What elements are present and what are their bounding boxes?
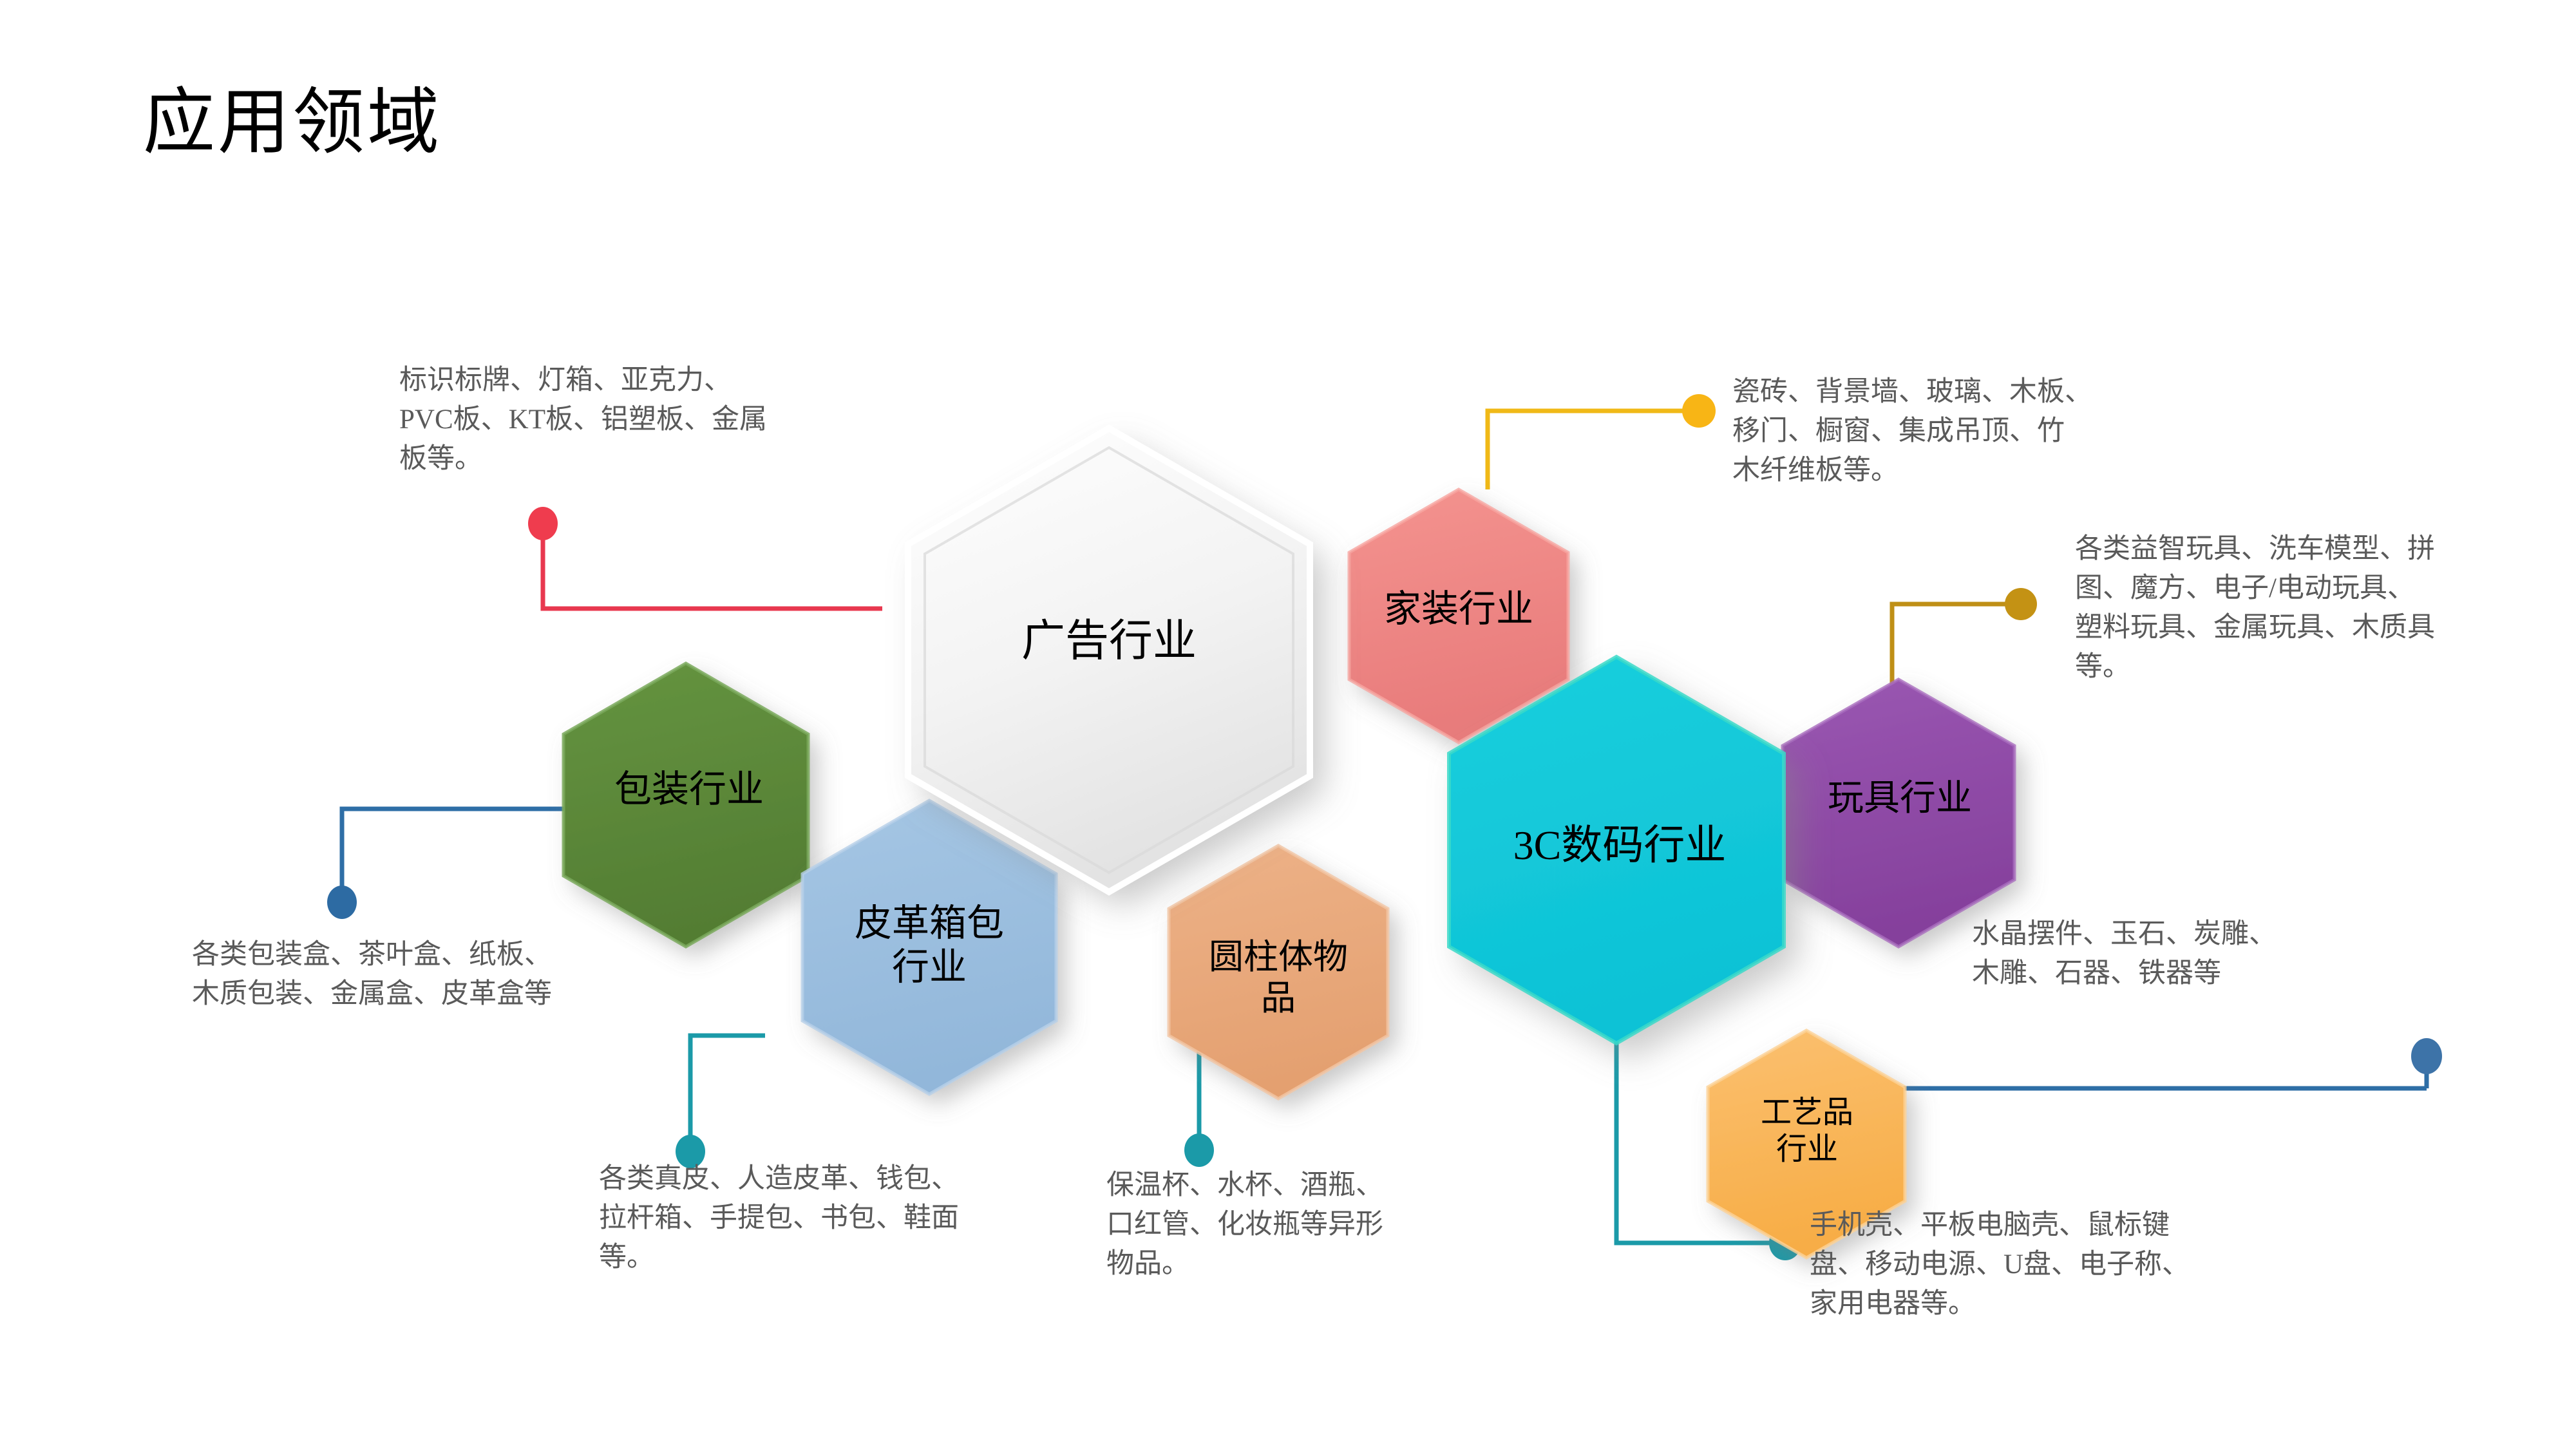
connector-dot-handicrafts: [2411, 1038, 2442, 1074]
hexagon-cylindrical-items[interactable]: [1169, 846, 1388, 1099]
note-digital-3c: 手机壳、平板电脑壳、鼠标键 盘、移动电源、U盘、电子称、 家用电器等。: [1810, 1206, 2280, 1323]
connector-dot-advertising: [528, 507, 558, 540]
connector-advertising: [528, 507, 882, 609]
hexagon-packaging[interactable]: [563, 663, 808, 947]
slide-canvas: 应用领域: [0, 0, 2576, 1449]
note-home-decoration: 瓷砖、背景墙、玻璃、木板、 移门、橱窗、集成吊顶、竹 木纤维板等。: [1732, 372, 2183, 490]
connector-dot-cylindrical: [1184, 1133, 1214, 1167]
hexagon-toys[interactable]: [1783, 679, 2014, 947]
connector-dot-home-decoration: [1682, 394, 1716, 428]
connector-leather-bags: [676, 1036, 765, 1168]
note-handicrafts: 水晶摆件、玉石、炭雕、 木雕、石器、铁器等: [1972, 914, 2397, 993]
hexagon-leather-bags[interactable]: [802, 800, 1056, 1094]
note-packaging: 各类包装盒、茶叶盒、纸板、 木质包装、金属盒、皮革盒等: [192, 935, 681, 1014]
connector-dot-packaging: [327, 885, 357, 919]
note-advertising: 标识标牌、灯箱、亚克力、 PVC板、KT板、铝塑板、金属 板等。: [399, 361, 844, 478]
note-toys: 各类益智玩具、洗车模型、拼 图、魔方、电子/电动玩具、 塑料玩具、金属玩具、木质…: [2075, 529, 2526, 687]
note-leather-bags: 各类真皮、人造皮革、钱包、 拉杆箱、手提包、书包、鞋面 等。: [599, 1159, 1050, 1277]
connector-dot-toys: [2005, 588, 2037, 620]
note-cylindrical-items: 保温杯、水杯、酒瓶、 口红管、化妆瓶等异形 物品。: [1106, 1166, 1467, 1283]
connector-home-decoration: [1488, 394, 1716, 489]
connector-packaging: [327, 809, 580, 919]
